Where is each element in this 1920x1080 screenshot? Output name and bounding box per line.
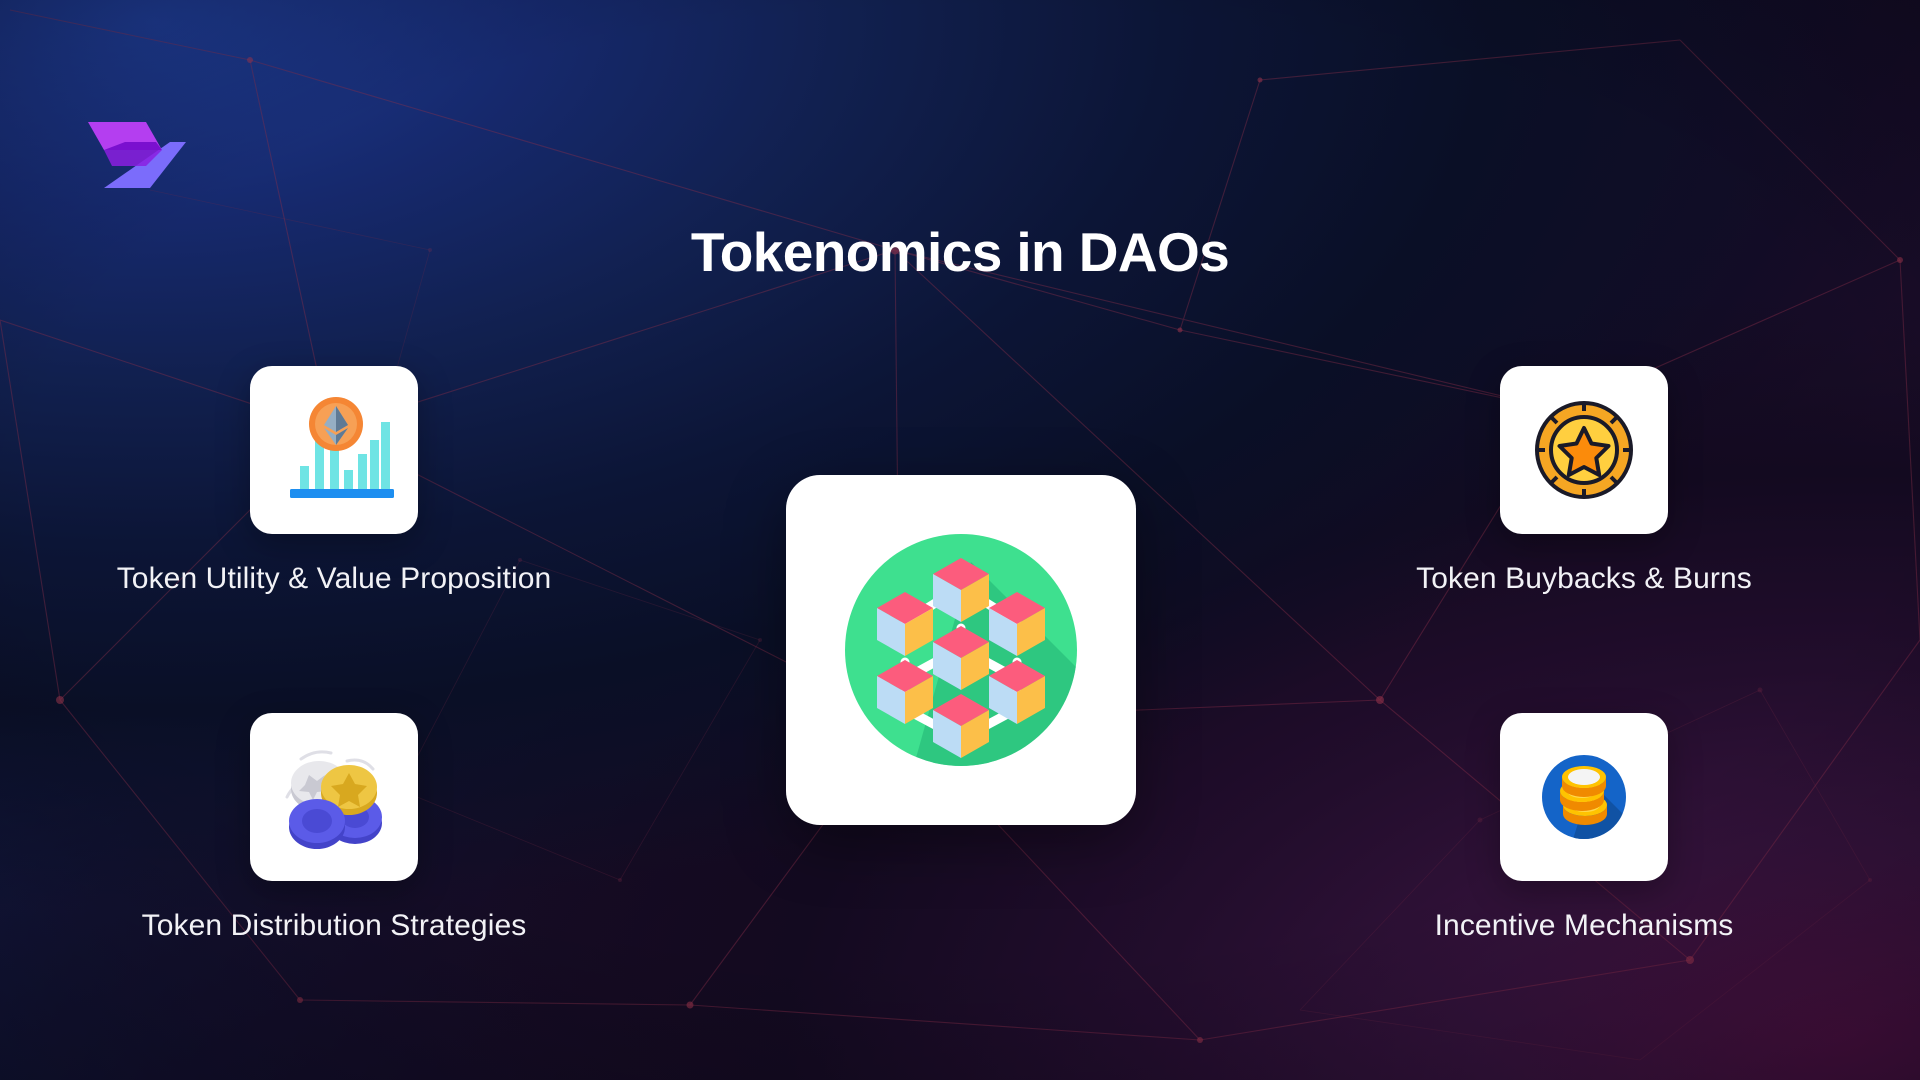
blockchain-network-icon [821,510,1101,790]
three-coins-icon [275,741,393,853]
star-coin-icon [1532,398,1636,502]
feature-item-token-distribution[interactable]: Token Distribution Strategies [84,713,584,943]
icon-card-token-distribution [250,713,418,881]
center-icon-card[interactable] [786,475,1136,825]
feature-label-token-buybacks: Token Buybacks & Burns [1416,562,1752,596]
feature-item-token-buybacks[interactable]: Token Buybacks & Burns [1334,366,1834,596]
feature-item-token-utility[interactable]: Token Utility & Value Proposition [84,366,584,596]
coin-stack-icon [1529,742,1639,852]
feature-label-incentive-mechanisms: Incentive Mechanisms [1435,909,1734,943]
icon-card-token-buybacks [1500,366,1668,534]
ethereum-coin-bar-chart-icon [274,390,394,510]
feature-item-incentive-mechanisms[interactable]: Incentive Mechanisms [1334,713,1834,943]
feature-label-token-distribution: Token Distribution Strategies [142,909,527,943]
slide-canvas: Tokenomics in DAOs [0,0,1920,1080]
brand-logo-icon[interactable] [88,118,186,192]
icon-card-incentive-mechanisms [1500,713,1668,881]
icon-card-token-utility [250,366,418,534]
page-title: Tokenomics in DAOs [0,222,1920,283]
feature-label-token-utility: Token Utility & Value Proposition [117,562,552,596]
